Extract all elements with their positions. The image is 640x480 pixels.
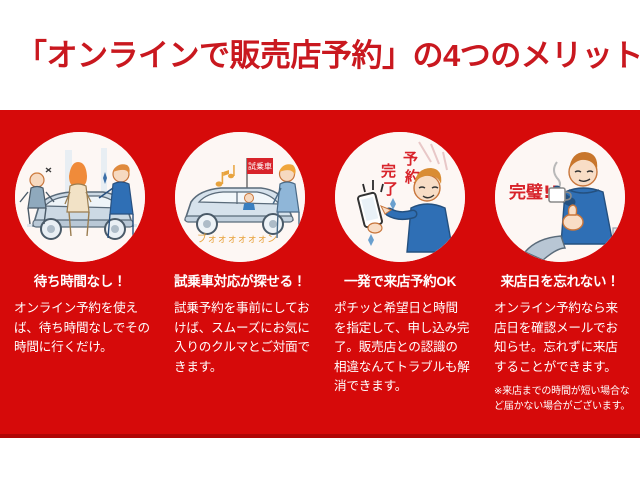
benefit-body-4: オンライン予約なら来店日を確認メールでお知らせ。忘れずに来店することができます。 [480, 299, 640, 377]
benefit-body-2: 試乗予約を事前にしておけば、スムーズにお気に入りのクルマとご対面できます。 [160, 299, 320, 377]
promo-poster: 「オンラインで販売店予約」の4つのメリット [0, 0, 640, 480]
flag-label: 試乗車 [248, 161, 272, 171]
benefit-note-4: ※来店までの時間が短い場合など届かない場合がございます。 [480, 385, 640, 414]
test-drive-car-with-flag-icon: 試乗車 [175, 132, 305, 262]
title-band: 「オンラインで販売店予約」の4つのメリット [0, 0, 640, 110]
illustration-1-wrap [15, 132, 145, 262]
benefit-column-2: 試乗車 [160, 110, 320, 438]
benefit-heading-3: 一発で来店予約OK [320, 274, 480, 290]
relaxed-man-thumbs-up-icon: 完璧!! [495, 132, 625, 262]
footer-white-band [0, 438, 640, 480]
benefit-body-3: ポチッと希望日と時間を指定して、申し込み完了。販売店との認識の相違なんてトラブル… [320, 299, 480, 397]
illustration-2-wrap: 試乗車 [175, 132, 305, 262]
benefit-column-4: 完璧!! [480, 110, 640, 438]
benefit-body-1: オンライン予約を使えば、待ち時間なしでその時間に行くだけ。 [0, 299, 160, 358]
red-content-panel: 待ち時間なし！ オンライン予約を使えば、待ち時間なしでその時間に行くだけ。 試乗… [0, 110, 640, 438]
illustration-4-wrap: 完璧!! [495, 132, 625, 262]
man-with-smartphone-icon: 予 約 完 了 [335, 132, 465, 262]
caption-char-4: 了 [383, 180, 398, 198]
people-waiting-by-car-icon [15, 132, 145, 262]
illustration-3-wrap: 予 約 完 了 [335, 132, 465, 262]
benefit-columns: 待ち時間なし！ オンライン予約を使えば、待ち時間なしでその時間に行くだけ。 試乗… [0, 110, 640, 438]
illustration-caption-2: ブォォォォォォン [197, 232, 277, 245]
benefit-column-1: 待ち時間なし！ オンライン予約を使えば、待ち時間なしでその時間に行くだけ。 [0, 110, 160, 438]
benefit-heading-2: 試乗車対応が探せる！ [160, 274, 320, 290]
caption-char-1: 予 [403, 150, 418, 168]
benefit-heading-1: 待ち時間なし！ [0, 274, 160, 290]
caption-char-3: 完 [380, 162, 396, 180]
page-title: 「オンラインで販売店予約」の4つのメリット [16, 40, 640, 71]
benefit-heading-4: 来店日を忘れない！ [480, 274, 640, 290]
benefit-column-3: 予 約 完 了 [320, 110, 480, 438]
